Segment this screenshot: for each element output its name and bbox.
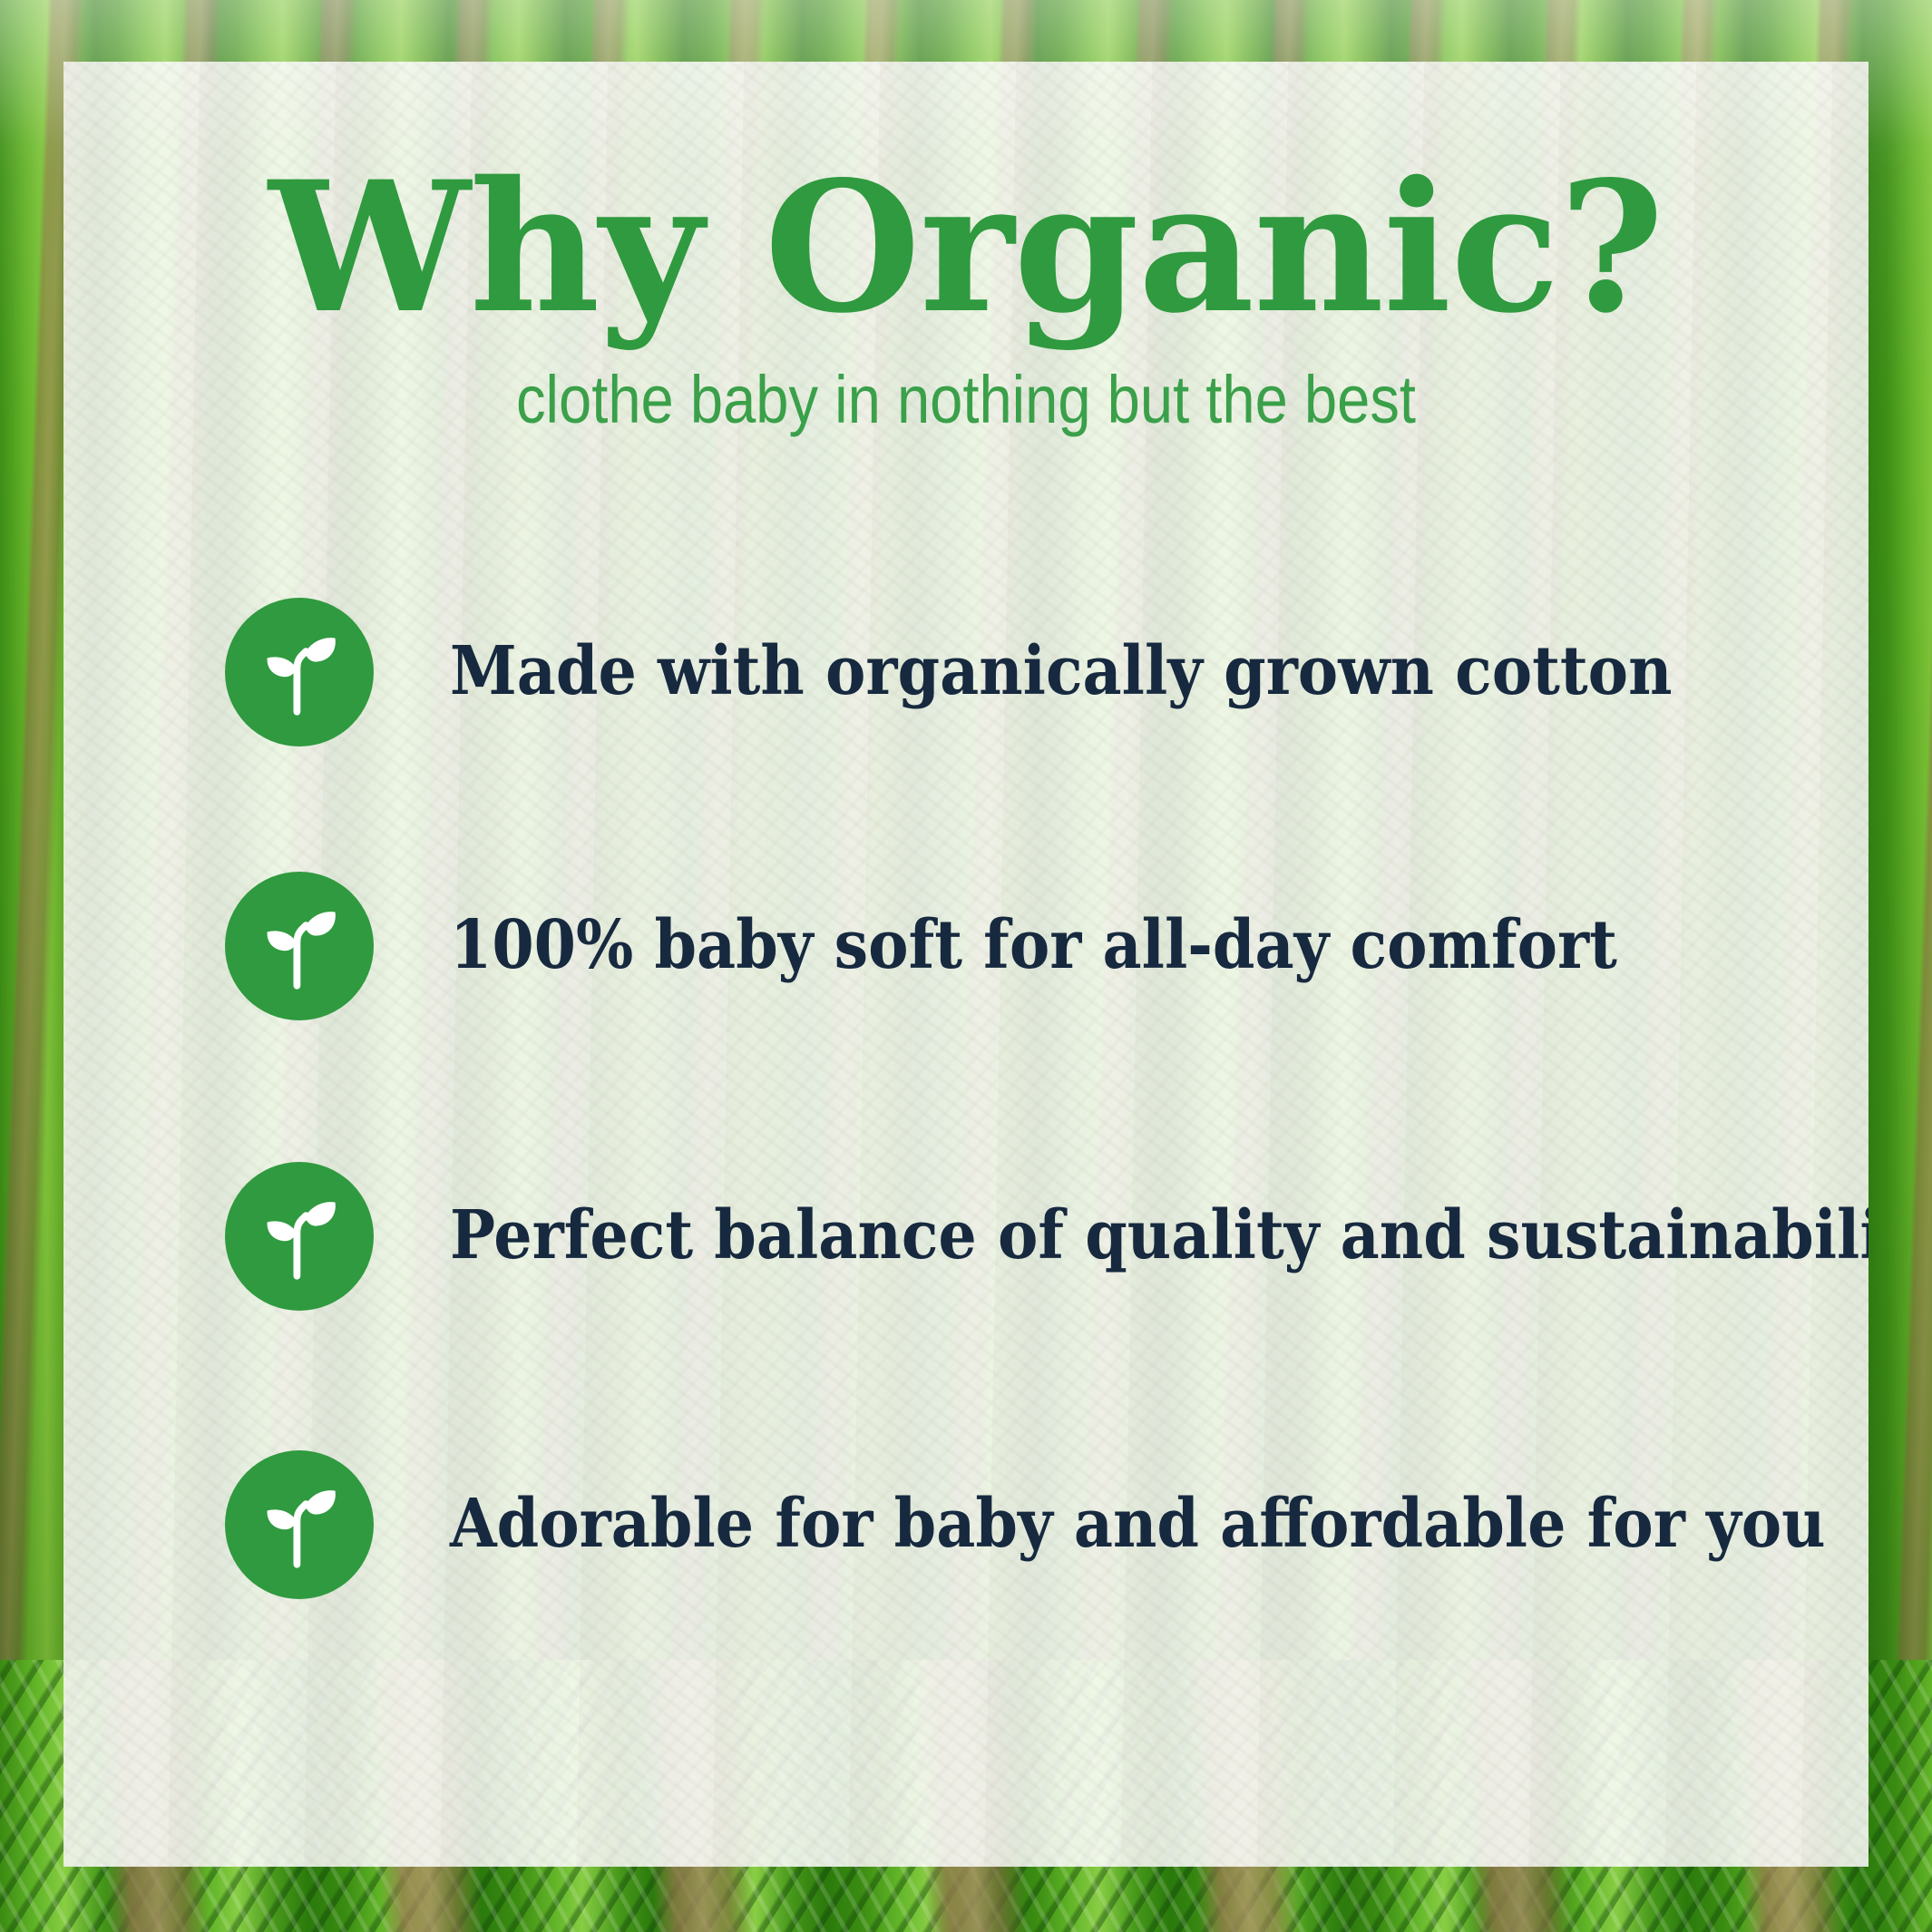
page-subtitle: clothe baby in nothing but the best: [171, 363, 1760, 436]
list-item: Made with organically grown cotton: [225, 597, 1808, 747]
list-item-label: Made with organically grown cotton: [450, 637, 1673, 707]
list-item-label: Adorable for baby and affordable for you: [450, 1489, 1826, 1560]
list-item-label: 100% baby soft for all-day comfort: [450, 911, 1617, 981]
page-title: Why Organic?: [63, 156, 1869, 339]
sprout-icon: [225, 1162, 374, 1311]
sprout-icon: [225, 598, 374, 746]
list-item: Adorable for baby and affordable for you: [225, 1449, 1869, 1600]
content-panel-inner: Why Organic? clothe baby in nothing but …: [63, 62, 1869, 1867]
list-item: Perfect balance of quality and sustainab…: [225, 1161, 1869, 1312]
list-item-label: Perfect balance of quality and sustainab…: [450, 1201, 1869, 1272]
sprout-icon: [225, 1450, 374, 1599]
sprout-icon: [225, 872, 374, 1020]
content-panel: Why Organic? clothe baby in nothing but …: [63, 62, 1869, 1867]
list-item: 100% baby soft for all-day comfort: [225, 871, 1747, 1021]
